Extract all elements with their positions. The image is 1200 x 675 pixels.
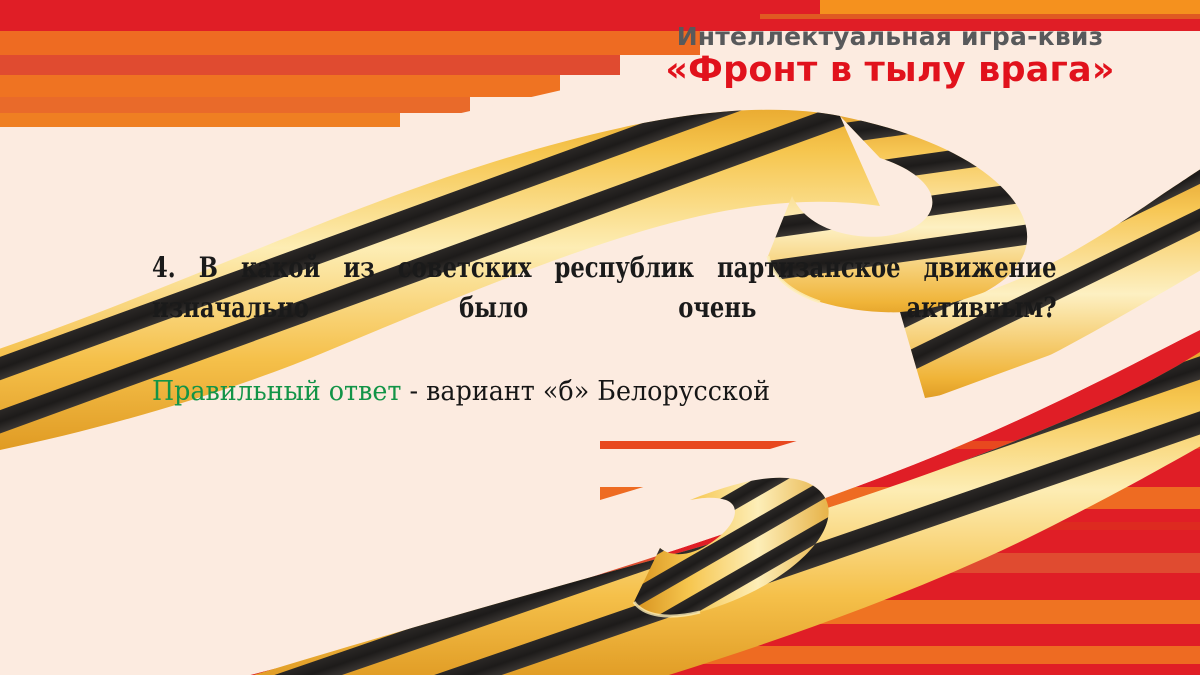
header-title-line-2: «Фронт в тылу врага» [620, 53, 1160, 88]
answer-label: Правильный ответ [152, 376, 401, 407]
slide-canvas: Интеллектуальная игра-квиз «Фронт в тылу… [0, 0, 1200, 675]
header-title-block: Интеллектуальная игра-квиз «Фронт в тылу… [620, 24, 1160, 88]
slide-content: 4. В какой из советских республик партиз… [152, 248, 1057, 367]
answer-line: Правильный ответ - вариант «б» Белорусск… [152, 376, 770, 408]
question-text: 4. В какой из советских республик партиз… [152, 248, 1057, 367]
answer-value: - вариант «б» Белорусской [401, 376, 770, 407]
header-title-line-1: Интеллектуальная игра-квиз [620, 24, 1160, 49]
